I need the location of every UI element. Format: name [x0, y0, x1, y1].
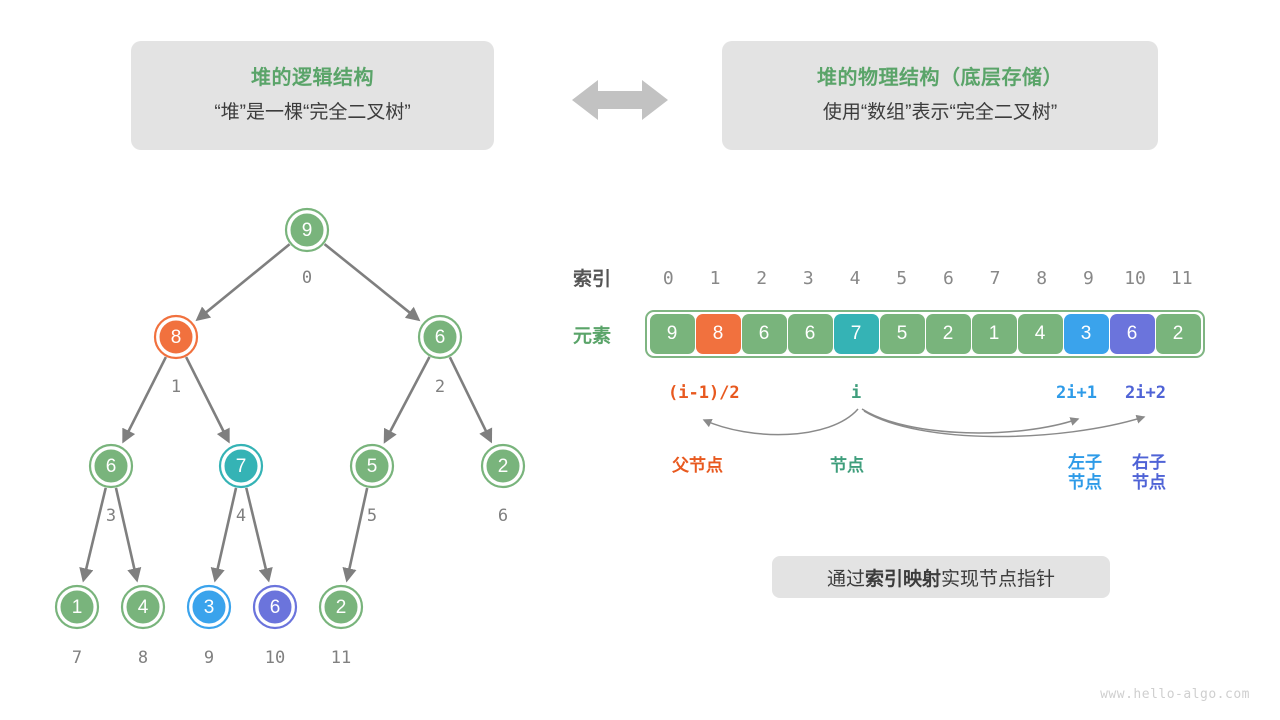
tree-node-index-label: 3: [106, 506, 116, 526]
parent-role-label: 父节点: [672, 456, 723, 476]
left-child-role-label: 左子节点: [1058, 453, 1112, 492]
array-index-cell: 2: [738, 266, 785, 292]
tree-node-index-label: 2: [435, 377, 445, 397]
note-emphasis: 索引映射: [865, 564, 941, 591]
tree-node-value: 6: [270, 597, 281, 618]
logical-structure-panel: 堆的逻辑结构 “堆”是一棵“完全二叉树”: [131, 41, 494, 150]
tree-node-index-label: 6: [498, 506, 508, 526]
array-index-cell: 6: [925, 266, 972, 292]
tree-edge: [186, 357, 228, 441]
binary-tree-graphic: 986675214362 01234567891011: [0, 190, 560, 670]
tree-node-index-label: 11: [331, 648, 351, 668]
array-index-cell: 7: [972, 266, 1019, 292]
physical-structure-title: 堆的物理结构（底层存储）: [817, 67, 1063, 89]
tree-edge: [215, 488, 236, 580]
note-suffix: 实现节点指针: [941, 564, 1055, 591]
tree-edge: [347, 488, 367, 580]
physical-structure-panel: 堆的物理结构（底层存储） 使用“数组”表示“完全二叉树”: [722, 41, 1158, 150]
tree-node-value: 1: [72, 597, 83, 618]
array-cell[interactable]: 6: [742, 314, 787, 354]
array-cell[interactable]: 2: [1156, 314, 1201, 354]
array-cell[interactable]: 3: [1064, 314, 1109, 354]
tree-edge: [116, 488, 137, 580]
index-mapping-curves: [640, 395, 1210, 457]
tree-node-value: 2: [498, 456, 509, 477]
tree-edge: [385, 357, 429, 441]
array-cell[interactable]: 4: [1018, 314, 1063, 354]
tree-node-index-label: 1: [171, 377, 181, 397]
tree-node-value: 6: [106, 456, 117, 477]
array-index-cell: 10: [1112, 266, 1159, 292]
tree-node-value: 9: [302, 220, 313, 241]
array-index-cell: 4: [832, 266, 879, 292]
self-role-label: 节点: [830, 456, 864, 476]
array-index-row-label: 索引: [573, 270, 611, 289]
array-cells-container: 986675214362: [645, 310, 1205, 358]
array-index-cell: 3: [785, 266, 832, 292]
note-prefix: 通过: [827, 564, 865, 591]
tree-edges: [84, 244, 491, 580]
array-index-cell: 0: [645, 266, 692, 292]
right-child-role-label: 右子节点: [1122, 453, 1176, 492]
array-index-cell: 11: [1158, 266, 1205, 292]
tree-node-value: 2: [336, 597, 347, 618]
tree-node-value: 5: [367, 456, 378, 477]
array-element-row-label: 元素: [573, 327, 611, 346]
physical-structure-subtitle: 使用“数组”表示“完全二叉树”: [823, 103, 1057, 124]
tree-node-value: 6: [435, 327, 446, 348]
tree-edge: [84, 488, 106, 580]
index-mapping-note: 通过索引映射实现节点指针: [772, 556, 1110, 598]
tree-node-index-label: 7: [72, 648, 82, 668]
tree-node-index-label: 0: [302, 268, 312, 288]
array-cell[interactable]: 6: [1110, 314, 1155, 354]
array-cell[interactable]: 5: [880, 314, 925, 354]
tree-edge: [246, 488, 268, 580]
tree-edge: [325, 244, 419, 319]
logical-structure-title: 堆的逻辑结构: [251, 67, 374, 89]
tree-node-index-label: 10: [265, 648, 285, 668]
array-cell[interactable]: 9: [650, 314, 695, 354]
tree-node-value: 7: [236, 456, 247, 477]
tree-edge: [124, 357, 166, 441]
tree-node-index-label: 8: [138, 648, 148, 668]
tree-node-index-label: 5: [367, 506, 377, 526]
array-index-row: 01234567891011: [645, 266, 1205, 292]
array-cell[interactable]: 8: [696, 314, 741, 354]
site-watermark: www.hello-algo.com: [1100, 687, 1250, 702]
tree-edge: [198, 244, 290, 319]
diagram-canvas: 堆的逻辑结构 “堆”是一棵“完全二叉树” 堆的物理结构（底层存储） 使用“数组”…: [0, 0, 1280, 720]
array-cell[interactable]: 2: [926, 314, 971, 354]
tree-node-value: 4: [138, 597, 149, 618]
array-index-cell: 9: [1065, 266, 1112, 292]
tree-node-index-label: 4: [236, 506, 246, 526]
array-cell[interactable]: 1: [972, 314, 1017, 354]
array-index-cell: 8: [1018, 266, 1065, 292]
tree-node-index-label: 9: [204, 648, 214, 668]
array-cell[interactable]: 7: [834, 314, 879, 354]
array-index-cell: 5: [878, 266, 925, 292]
logical-structure-subtitle: “堆”是一棵“完全二叉树”: [214, 103, 410, 124]
tree-node-value: 3: [204, 597, 215, 618]
tree-edge: [450, 357, 491, 441]
tree-node-value: 8: [171, 327, 182, 348]
tree-nodes: 986675214362: [56, 209, 524, 628]
array-cell[interactable]: 6: [788, 314, 833, 354]
array-index-cell: 1: [692, 266, 739, 292]
bidirectional-arrow-icon: [572, 78, 668, 122]
